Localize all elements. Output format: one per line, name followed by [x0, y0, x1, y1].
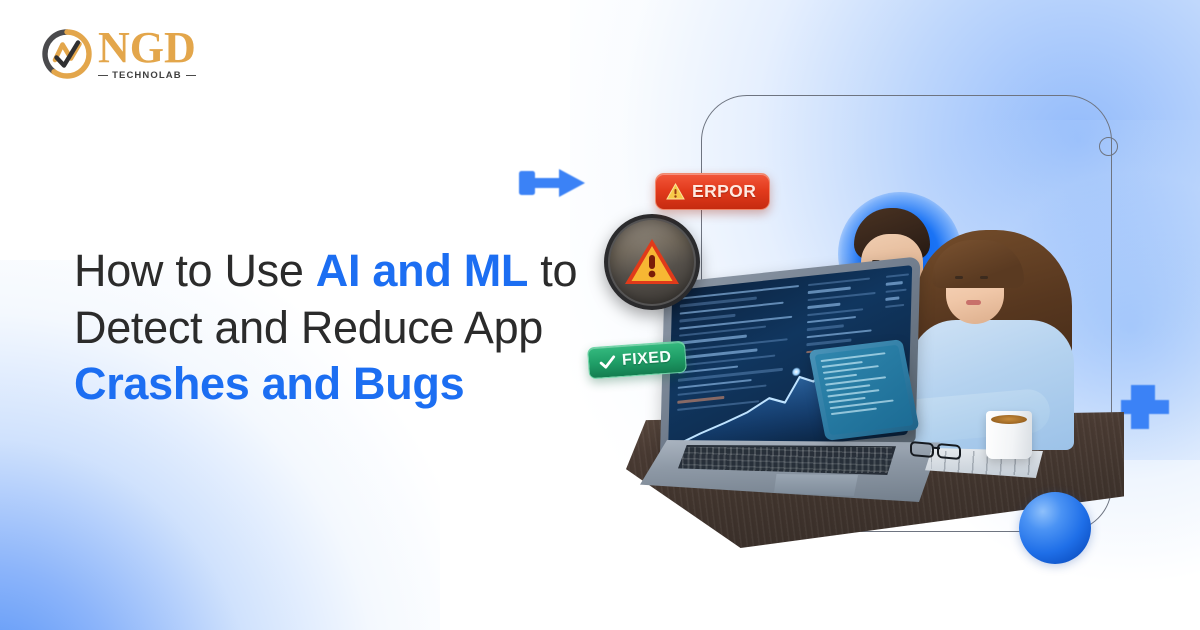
status-badge-error[interactable]: ERPOR	[655, 173, 770, 210]
title-segment-highlight-2: Crashes and Bugs	[74, 358, 464, 409]
title-segment-plain-1: How to Use	[74, 245, 316, 296]
brand-logo[interactable]: NGD TECHNOLAB	[40, 26, 196, 81]
brand-tagline: TECHNOLAB	[112, 70, 182, 81]
blog-banner: NGD TECHNOLAB How to Use AI and ML to De…	[0, 0, 1200, 630]
warning-triangle-icon	[623, 237, 681, 287]
tablet-code-lines	[821, 351, 905, 415]
tagline-rule-right	[186, 75, 196, 76]
tagline-rule-left	[98, 75, 108, 76]
keyboard-keys	[682, 447, 892, 473]
woman-eye-left	[955, 276, 963, 279]
coffee-mug	[986, 411, 1032, 459]
woman-eye-right	[980, 276, 988, 279]
laptop-trackpad	[774, 474, 858, 496]
check-mark-icon	[599, 354, 617, 370]
tablet-screen	[814, 345, 913, 436]
page-title: How to Use AI and ML to Detect and Reduc…	[74, 243, 584, 413]
glasses-lens-left	[910, 441, 934, 458]
brand-wordmark: NGD TECHNOLAB	[98, 26, 196, 81]
status-badge-fixed-label: FIXED	[621, 349, 672, 370]
ngd-circle-monogram-icon	[40, 27, 94, 81]
glasses-lens-right	[937, 443, 961, 460]
title-segment-highlight-1: AI and ML	[316, 245, 528, 296]
status-badge-error-label: ERPOR	[692, 181, 756, 202]
coffee-surface	[991, 415, 1027, 424]
woman-lips	[966, 300, 981, 305]
blue-plus-block-icon	[1119, 383, 1171, 431]
eyeglasses	[910, 442, 968, 459]
blue-sphere-icon	[1019, 492, 1091, 564]
brand-tagline-row: TECHNOLAB	[98, 70, 196, 81]
warning-triangle-icon	[666, 183, 685, 200]
blue-arrow-marker-icon	[519, 166, 591, 200]
tablet-device	[808, 339, 919, 441]
brand-name: NGD	[98, 26, 196, 69]
magnifier-lens-icon	[604, 214, 700, 310]
code-column-right	[885, 273, 912, 308]
status-badge-fixed[interactable]: FIXED	[587, 341, 687, 380]
